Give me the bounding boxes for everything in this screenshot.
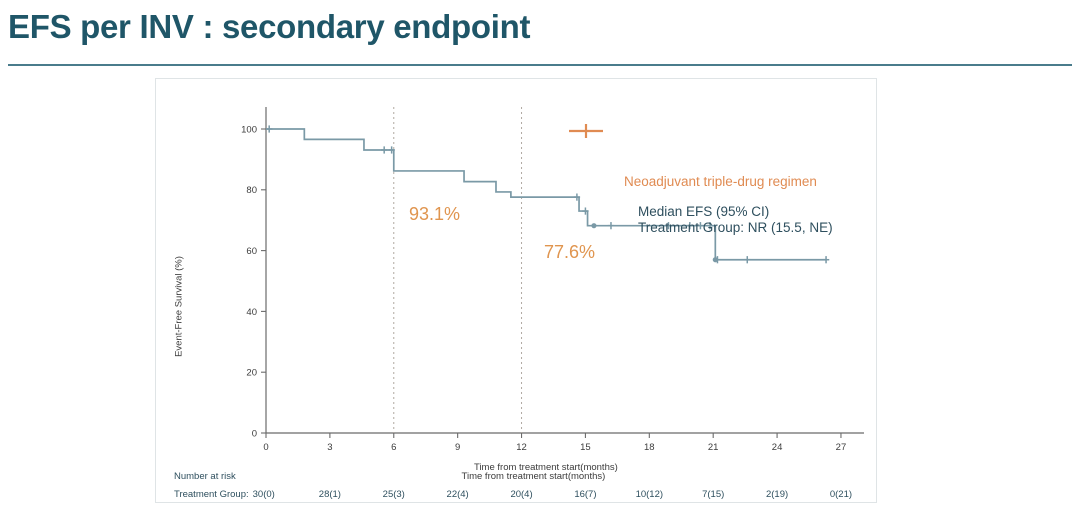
number-at-risk-axis-caption: Time from treatment start(months) xyxy=(462,471,606,482)
survival-curve-layer xyxy=(266,129,826,260)
risk-value-3mo: 28(1) xyxy=(319,489,341,500)
y-tick-label: 60 xyxy=(246,246,257,257)
km-plot-svg: 0204060801000369121518212427 xyxy=(156,79,876,502)
x-tick-label: 18 xyxy=(644,442,655,453)
x-tick-label: 21 xyxy=(708,442,719,453)
x-tick-label: 0 xyxy=(263,442,268,453)
censor-mark xyxy=(608,222,614,229)
median-efs-value: Treatment Group: NR (15.5, NE) xyxy=(638,220,833,236)
reference-lines-layer xyxy=(394,107,522,433)
risk-value-27mo: 0(21) xyxy=(830,489,852,500)
median-efs-block: Median EFS (95% CI) Treatment Group: NR … xyxy=(638,204,833,236)
risk-value-15mo: 16(7) xyxy=(574,489,596,500)
x-tick-label: 6 xyxy=(391,442,396,453)
efs-rate-12mo-label: 77.6% xyxy=(544,242,595,263)
legend-marker-layer xyxy=(569,124,603,138)
y-tick-label: 0 xyxy=(252,428,257,439)
event-point xyxy=(713,257,718,262)
title-divider xyxy=(8,64,1072,66)
censor-mark xyxy=(744,256,750,263)
risk-value-21mo: 7(15) xyxy=(702,489,724,500)
y-tick-label: 40 xyxy=(246,307,257,318)
x-tick-label: 12 xyxy=(516,442,527,453)
km-chart-panel: 0204060801000369121518212427 Neoadjuvant… xyxy=(155,78,877,503)
censor-mark xyxy=(823,256,829,263)
number-at-risk-title: Number at risk xyxy=(174,471,236,482)
page-title: EFS per INV : secondary endpoint xyxy=(8,8,530,46)
x-tick-label: 24 xyxy=(772,442,783,453)
x-tick-label: 15 xyxy=(580,442,591,453)
y-tick-label: 100 xyxy=(241,124,257,135)
x-tick-label: 3 xyxy=(327,442,332,453)
legend-series-label: Neoadjuvant triple-drug regimen xyxy=(624,174,817,189)
risk-value-12mo: 20(4) xyxy=(510,489,532,500)
risk-value-0mo: 30(0) xyxy=(253,489,275,500)
y-tick-label: 80 xyxy=(246,185,257,196)
risk-value-6mo: 25(3) xyxy=(383,489,405,500)
number-at-risk-row-label: Treatment Group: xyxy=(174,489,249,500)
x-tick-label: 9 xyxy=(455,442,460,453)
risk-value-24mo: 2(19) xyxy=(766,489,788,500)
risk-value-18mo: 10(12) xyxy=(636,489,663,500)
number-at-risk-table: Number at risk Treatment Group: 30(0)28(… xyxy=(164,471,876,501)
y-tick-label: 20 xyxy=(246,368,257,379)
x-tick-label: 27 xyxy=(836,442,847,453)
censor-mark xyxy=(266,125,272,132)
risk-value-9mo: 22(4) xyxy=(447,489,469,500)
median-efs-heading: Median EFS (95% CI) xyxy=(638,204,833,220)
slide-canvas: EFS per INV : secondary endpoint 0204060… xyxy=(0,0,1080,520)
censor-mark xyxy=(381,146,387,153)
y-axis-title: Event-Free Survival (%) xyxy=(174,227,185,387)
efs-rate-6mo-label: 93.1% xyxy=(409,204,460,225)
event-point xyxy=(591,223,596,228)
axes-layer: 0204060801000369121518212427 xyxy=(241,107,864,453)
